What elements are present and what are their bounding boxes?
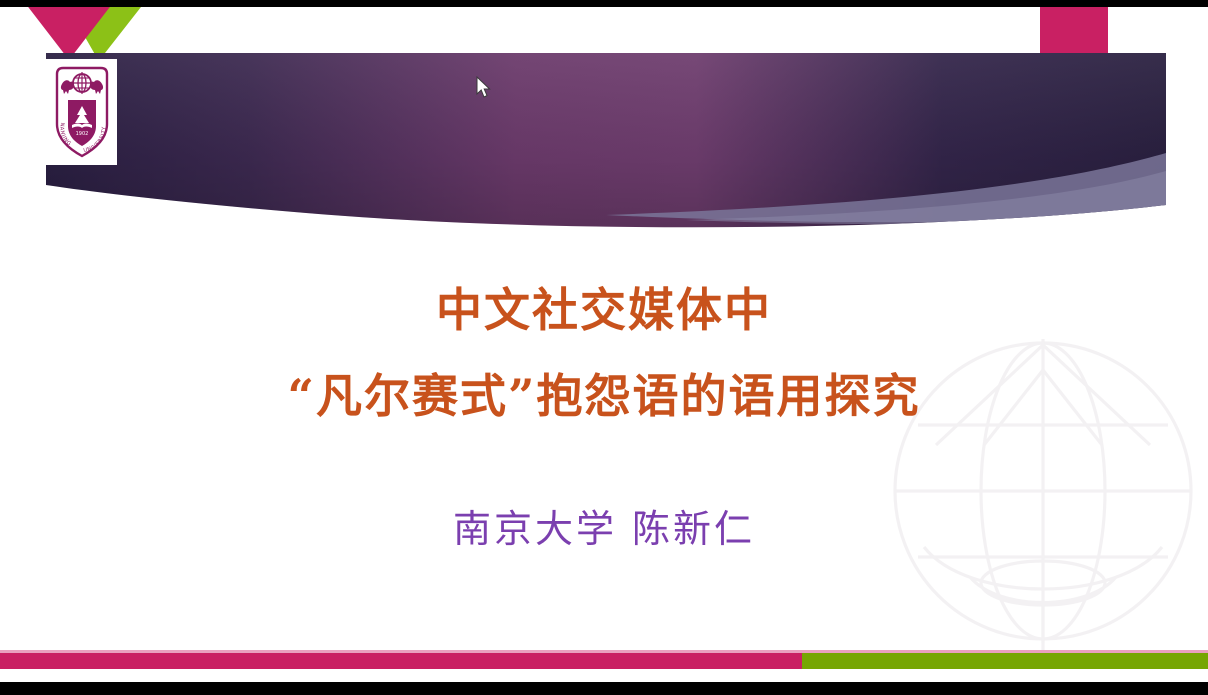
bottom-bar-green xyxy=(802,653,1208,669)
subtitle-author: 南京大学 陈新仁 xyxy=(0,503,1208,555)
banner-shape-icon xyxy=(46,53,1166,228)
logo-year: 1902 xyxy=(75,131,88,137)
letterbox-bottom xyxy=(0,682,1208,695)
title-line-1: 中文社交媒体中 xyxy=(0,279,1208,341)
university-logo: 1902 NANJING UNIVERSITY xyxy=(46,59,117,165)
bottom-bar xyxy=(0,653,1208,669)
slide-root: 1902 NANJING UNIVERSITY xyxy=(0,0,1208,695)
letterbox-top xyxy=(0,0,1208,7)
nanjing-university-crest-icon: 1902 NANJING UNIVERSITY xyxy=(49,62,115,162)
title-banner xyxy=(46,53,1166,228)
slide-canvas: 1902 NANJING UNIVERSITY xyxy=(0,7,1208,682)
bottom-bar-pink xyxy=(0,653,802,669)
title-line-2: “凡尔赛式”抱怨语的语用探究 xyxy=(0,365,1208,427)
page-title: 中文社交媒体中 “凡尔赛式”抱怨语的语用探究 xyxy=(0,279,1208,427)
